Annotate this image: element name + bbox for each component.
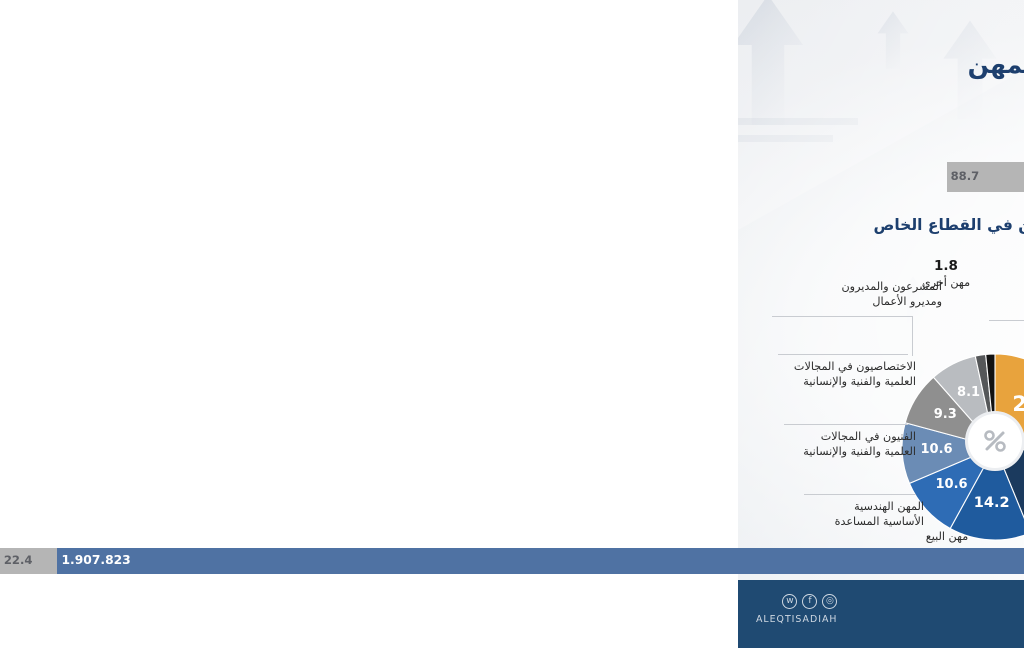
infographic-canvas: نسب التوطين في القطاع الخاص حسب المهن تو… xyxy=(0,0,1024,648)
axis-tick xyxy=(833,457,840,458)
bar-category-line: العلمية والفنية والإنسانية xyxy=(846,293,1022,308)
bar-chart-panel: عدد السعوديين نسبة التوطين % 503.88088.7… xyxy=(0,150,1024,570)
bar-category-label: الاختصاصيون في المجالاتالعلمية والفنية و… xyxy=(846,278,1022,308)
axis-tick xyxy=(833,417,840,418)
bar-value-count: 4.028 xyxy=(773,515,813,529)
bar-category-line: الإجمالي xyxy=(846,548,1022,565)
bar-category-line: مهن البيع xyxy=(846,246,1022,261)
bar-segment-count xyxy=(806,478,833,508)
blue-swatch xyxy=(490,305,501,316)
bar-category-line: الأساسية المساعدة xyxy=(846,413,1022,428)
bar-category-label: مهن البيع xyxy=(846,246,1022,261)
bar-category-line: الفنيون في المجالات xyxy=(846,320,1022,335)
bar-value-count: 269.408 xyxy=(624,251,680,265)
bar-segment-percent xyxy=(813,514,827,540)
bar-value-count: 177.484 xyxy=(697,288,753,302)
bar-segment-percent xyxy=(761,364,808,394)
bar-segment-percent xyxy=(646,400,673,434)
bar-category-line: مهن الخدمات xyxy=(846,444,1022,459)
bar-category-label: الفنيون في المجالاتالعلمية والفنية والإن… xyxy=(846,320,1022,350)
bar-value-percent: 32.2 xyxy=(595,331,624,345)
bar-value-percent: 72.1 xyxy=(533,211,562,225)
legend-label: عدد السعوديين xyxy=(508,303,581,317)
bar-category-label: مهن الخدمات xyxy=(846,444,1022,459)
bar-value-percent: 52.0 xyxy=(492,251,521,265)
footer-website-label: WWW.ALEQT.COM xyxy=(909,614,1006,625)
bar-value-percent: 9.5 xyxy=(520,449,547,463)
legend-label: نسبة التوطين % xyxy=(508,320,589,334)
gray-swatch xyxy=(490,322,501,333)
bar-value-percent: 88.7 xyxy=(213,169,242,183)
bar-segment-count xyxy=(808,364,833,394)
bar-category-label: مهن أخرى xyxy=(846,480,1022,495)
bar-category-label: المهن الهندسيةالأساسية المساعدة xyxy=(846,398,1022,428)
bar-category-line: مهن العمليات الصناعية xyxy=(846,358,1022,373)
bar-category-line: مهن الزراعة وتربية xyxy=(846,512,1022,527)
bar-category-label: مهن الزراعة وتربيةالحيوان والطيور والصيد xyxy=(846,512,1022,542)
bar-value-count: 34.076 xyxy=(744,479,791,493)
footer-brand-logo: الاقتصادية xyxy=(0,600,1024,622)
bar-value-count: 330.103 xyxy=(576,449,632,463)
bar-segment-percent xyxy=(790,478,806,508)
page-title-highlight: نسب التوطين xyxy=(624,50,794,79)
axis-tick xyxy=(833,527,840,528)
bar-category-line: المهن الكتابية xyxy=(846,164,1022,179)
bar-value-count: 503.880 xyxy=(438,169,494,183)
globe-icon[interactable]: ◉ xyxy=(991,594,1006,609)
bar-value-percent: 6.2 xyxy=(763,492,790,506)
bar-value-percent: 5.6 xyxy=(786,528,813,542)
bar-category-line: الاختصاصيون في المجالات xyxy=(846,278,1022,293)
footer-website: ◉ WWW.ALEQT.COM xyxy=(909,594,1006,625)
bar-value-count: 202.031 xyxy=(678,408,734,422)
axis-tick xyxy=(833,219,840,220)
bar-category-line: والكيميائية والصناعات الغذائية xyxy=(846,373,1022,388)
axis-tick xyxy=(833,297,840,298)
bar-category-label: المهن الكتابية xyxy=(846,164,1022,179)
bar-value-percent: 18.7 xyxy=(727,378,761,392)
bar-value-count: 31.384 xyxy=(714,365,761,379)
bar-category-label: مهن العمليات الصناعيةوالكيميائية والصناع… xyxy=(846,358,1022,388)
page-title-rest: في القطاع الخاص حسب المهن xyxy=(230,50,625,79)
bar-category-line: الحيوان والطيور والصيد xyxy=(846,527,1022,542)
axis-tick xyxy=(833,177,840,178)
bar-value-percent: 10.7 xyxy=(612,409,646,423)
bar-category-line: المشرعون والمديرون xyxy=(846,200,1022,215)
bar-category-label: المشرعون والمديرونومديرو الأعمال xyxy=(846,200,1022,230)
bar-segment-percent xyxy=(547,442,571,472)
bar-segment-percent xyxy=(209,162,433,192)
bar-category-line: العلمية والفنية والإنسانية xyxy=(846,335,1022,350)
bar-value-count: 201.981 xyxy=(678,330,734,344)
bar-category-line: المهن الهندسية xyxy=(846,398,1022,413)
bar-value-percent: 40.1 xyxy=(595,289,624,303)
axis-tick xyxy=(833,561,840,562)
axis-tick xyxy=(833,339,840,340)
footer-bar: ◎ f w ALEQTISADIAH الاقتصادية ◉ WWW.ALEQ… xyxy=(0,580,1024,648)
bar-category-line: مهن أخرى xyxy=(846,480,1022,495)
axis-tick xyxy=(833,379,840,380)
bar-value-count: 153.448 xyxy=(716,210,772,224)
bar-category-label: الإجمالي xyxy=(846,548,1022,565)
axis-tick xyxy=(833,259,840,260)
bar-chart-axis xyxy=(833,155,835,555)
bar-segment-count xyxy=(0,548,833,574)
axis-tick xyxy=(833,493,840,494)
bar-category-line: ومديرو الأعمال xyxy=(846,215,1022,230)
page-title: نسب التوطين في القطاع الخاص حسب المهن xyxy=(0,50,1024,80)
